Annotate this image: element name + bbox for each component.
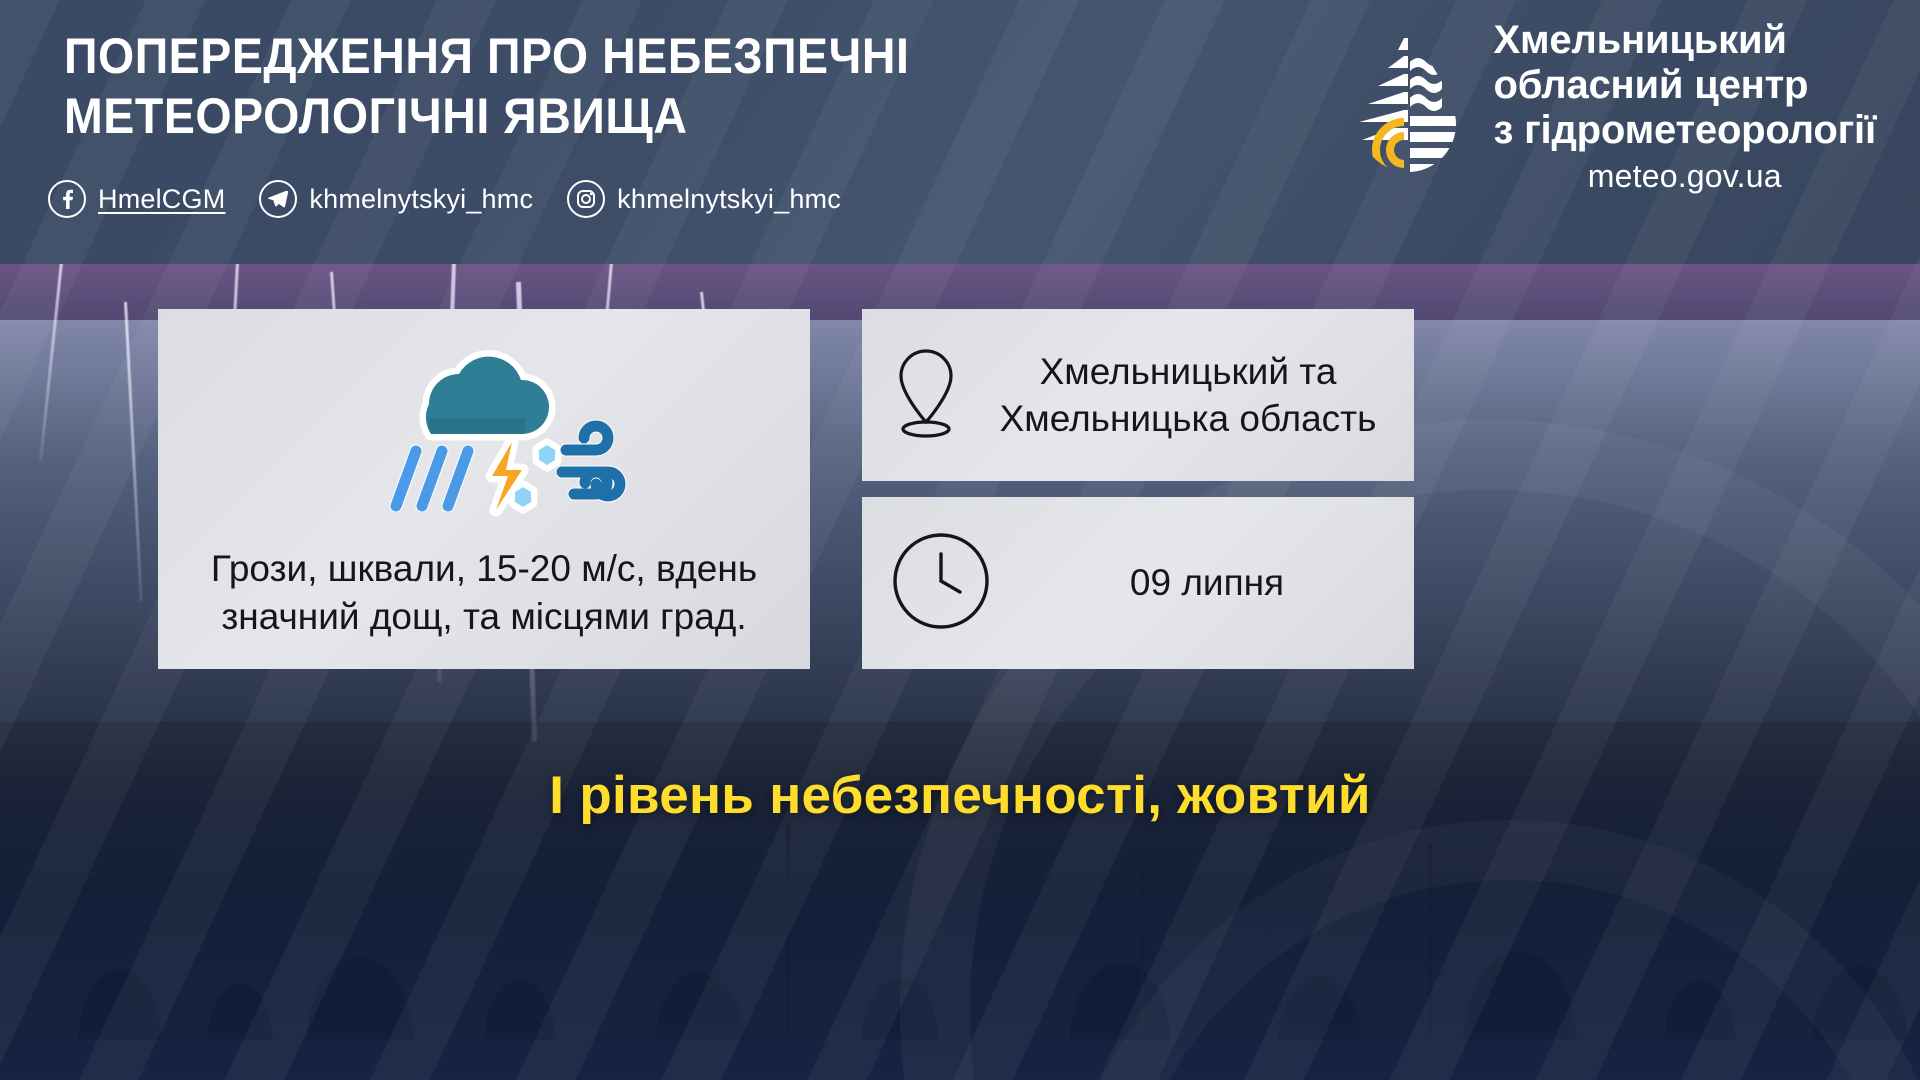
page-title: ПОПЕРЕДЖЕННЯ ПРО НЕБЕЗПЕЧНІ МЕТЕОРОЛОГІЧ… — [64, 26, 1022, 146]
brand-line-3: з гідрометеорології — [1494, 108, 1877, 153]
date-text: 09 липня — [1028, 561, 1386, 605]
brand-block: Хмельницький обласний центр з гідрометео… — [1348, 18, 1877, 195]
social-handle: HmelCGM — [98, 184, 225, 215]
brand-website[interactable]: meteo.gov.ua — [1494, 158, 1877, 195]
brand-text: Хмельницький обласний центр з гідрометео… — [1494, 18, 1877, 195]
social-link-instagram[interactable]: khmelnytskyi_hmc — [567, 180, 841, 218]
location-card: Хмельницький та Хмельницька область — [862, 309, 1414, 481]
social-links: HmelCGM khmelnytskyi_hmc khmelnytskyi_hm… — [48, 180, 875, 218]
header: ПОПЕРЕДЖЕННЯ ПРО НЕБЕЗПЕЧНІ МЕТЕОРОЛОГІЧ… — [0, 0, 1920, 264]
social-handle: khmelnytskyi_hmc — [617, 184, 841, 215]
instagram-icon — [567, 180, 605, 218]
location-text: Хмельницький та Хмельницька область — [990, 348, 1386, 443]
telegram-icon — [259, 180, 297, 218]
thunderstorm-rain-hail-wind-icon — [334, 346, 634, 541]
brand-line-1: Хмельницький — [1494, 18, 1877, 63]
phenomena-card: Грози, шквали, 15-20 м/с, вдень значний … — [158, 309, 810, 669]
map-pin-icon — [890, 345, 962, 446]
facebook-icon — [48, 180, 86, 218]
droplet-logo-icon — [1348, 28, 1468, 178]
danger-level-text: I рівень небезпечності, жовтий — [0, 765, 1920, 826]
title-line-2: МЕТЕОРОЛОГІЧНІ ЯВИЩА — [64, 86, 1022, 146]
social-link-telegram[interactable]: khmelnytskyi_hmc — [259, 180, 533, 218]
title-line-1: ПОПЕРЕДЖЕННЯ ПРО НЕБЕЗПЕЧНІ — [64, 26, 1022, 86]
clock-icon — [890, 530, 992, 637]
date-card: 09 липня — [862, 497, 1414, 669]
poster-stage: ПОПЕРЕДЖЕННЯ ПРО НЕБЕЗПЕЧНІ МЕТЕОРОЛОГІЧ… — [0, 0, 1920, 1080]
social-link-facebook[interactable]: HmelCGM — [48, 180, 225, 218]
phenomena-text: Грози, шквали, 15-20 м/с, вдень значний … — [158, 545, 810, 640]
social-handle: khmelnytskyi_hmc — [309, 184, 533, 215]
brand-line-2: обласний центр — [1494, 63, 1877, 108]
